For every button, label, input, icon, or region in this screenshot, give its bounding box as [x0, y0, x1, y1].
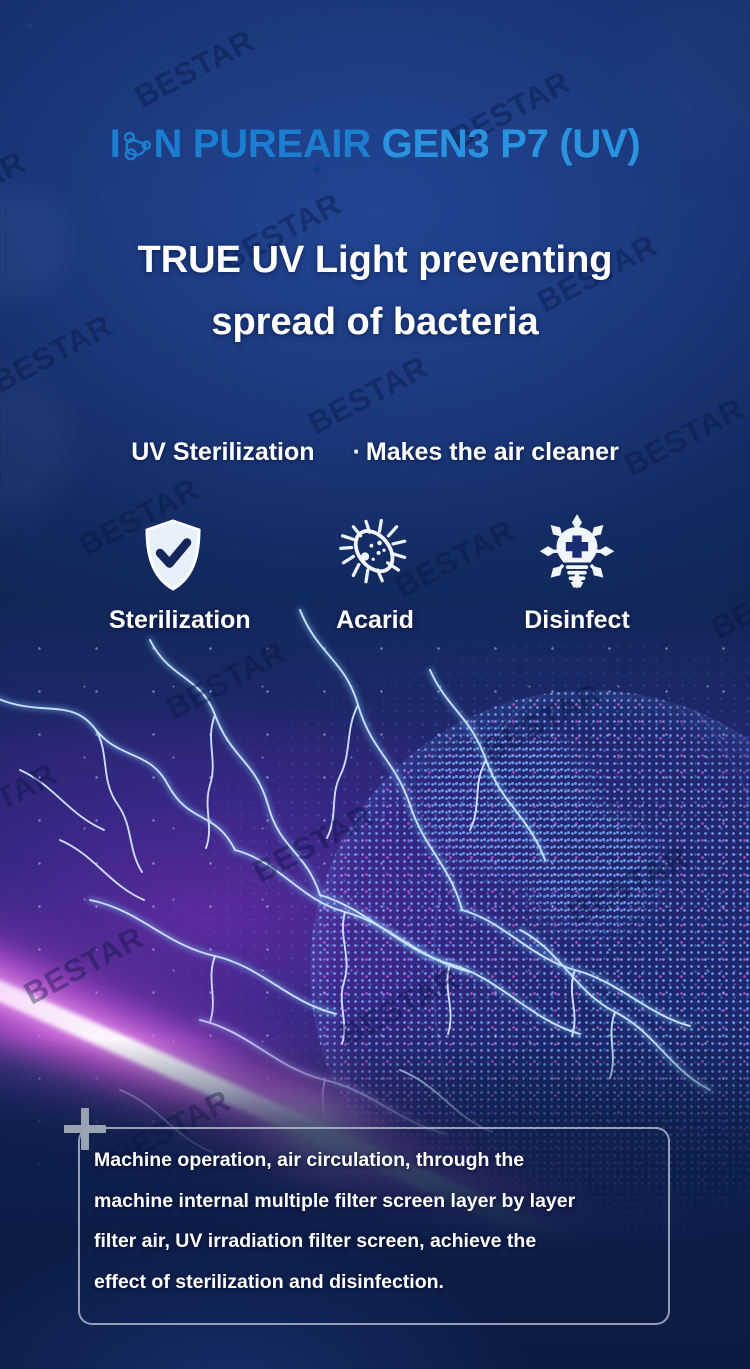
description-line-3: filter air, UV irradiation filter screen…	[94, 1221, 666, 1262]
badge-disinfect: Disinfect	[513, 512, 641, 633]
description-line-2: machine internal multiple filter screen …	[94, 1181, 666, 1222]
description-line-1: Machine operation, air circulation, thro…	[94, 1140, 666, 1181]
headline-line-1: TRUE UV Light preventing	[138, 239, 613, 281]
description-line-4: effect of sterilization and disinfection…	[94, 1262, 666, 1303]
lightbulb-disinfect-icon	[513, 512, 641, 598]
brand-after-a: IR	[331, 122, 370, 166]
water-drop-icon	[313, 140, 322, 152]
product-title: I N PUREAIR GEN3 P7 (UV)	[0, 124, 750, 168]
description-text: Machine operation, air circulation, thro…	[94, 1140, 666, 1302]
poster-canvas: BESTARBESTARBESTARBESTARBESTARBESTARBEST…	[0, 0, 750, 1369]
bacteria-icon	[311, 512, 439, 592]
badge-label: Acarid	[311, 608, 439, 633]
badge-acarid: Acarid	[311, 512, 439, 633]
shield-check-icon	[109, 512, 237, 598]
brand-a-letter: A	[303, 124, 332, 164]
brand-after-icon: N PURE	[153, 122, 302, 166]
feature-right: ·Makes the air cleaner	[353, 440, 619, 465]
badge-label: Disinfect	[513, 608, 641, 633]
badge-label: Sterilization	[109, 608, 237, 633]
feature-right-label: Makes the air cleaner	[366, 438, 619, 466]
page-headline: TRUE UV Light preventing spread of bacte…	[40, 230, 710, 353]
headline-line-2: spread of bacteria	[40, 292, 710, 354]
atom-icon	[121, 128, 152, 168]
badge-sterilization: Sterilization	[109, 512, 237, 633]
feature-left-label: UV Sterilization	[131, 440, 314, 465]
feature-bullet: ·	[353, 438, 361, 466]
brand-model: GEN3 P7 (UV)	[382, 122, 641, 166]
feature-strip: UV Sterilization ·Makes the air cleaner	[0, 440, 750, 465]
benefit-badges: Sterilization	[0, 512, 750, 633]
brand-prefix: I	[110, 122, 121, 166]
poster-content: I N PUREAIR GEN3 P7 (UV) TRUE UV Light p…	[0, 0, 750, 1369]
